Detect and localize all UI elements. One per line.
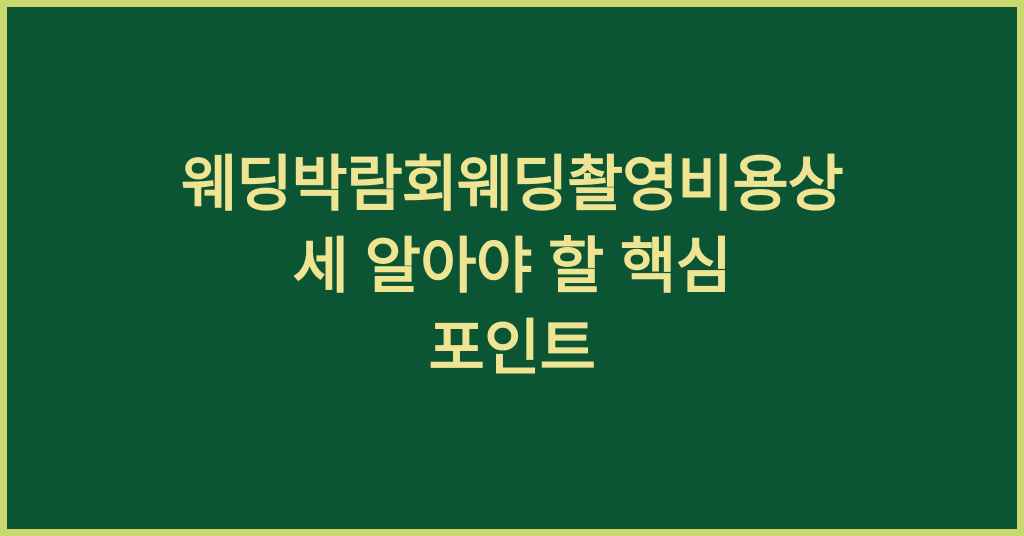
page-title-line-2: 세 알아야 할 핵심 [33, 225, 991, 307]
page-title-line-1: 웨딩박람회웨딩촬영비용상 [33, 143, 991, 225]
thumbnail-card: 웨딩박람회웨딩촬영비용상 세 알아야 할 핵심 포인트 [0, 0, 1024, 536]
page-title: 웨딩박람회웨딩촬영비용상 세 알아야 할 핵심 포인트 [7, 143, 1017, 389]
thumbnail-inner-panel: 웨딩박람회웨딩촬영비용상 세 알아야 할 핵심 포인트 [7, 7, 1017, 529]
page-title-line-3: 포인트 [33, 307, 991, 389]
